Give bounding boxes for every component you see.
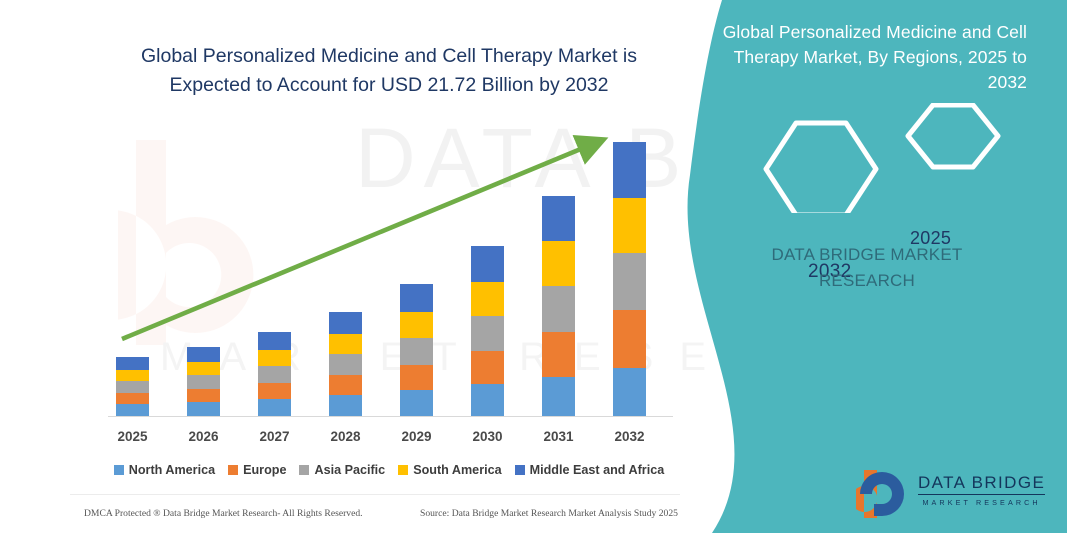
legend-label: North America — [129, 463, 215, 477]
footer-divider — [70, 494, 680, 495]
infographic-root: DATA BRIDGE MARKET RESEARCH Global Perso… — [0, 0, 1067, 533]
bar-segment-middle-east-and-africa[interactable] — [400, 284, 433, 312]
bar-segment-middle-east-and-africa[interactable] — [329, 312, 362, 334]
legend-swatch-icon — [299, 465, 309, 475]
legend-item-europe[interactable]: Europe — [228, 463, 286, 477]
bar-2030[interactable] — [471, 246, 504, 416]
bar-segment-asia-pacific[interactable] — [258, 366, 291, 383]
bar-segment-south-america[interactable] — [400, 312, 433, 338]
bar-2027[interactable] — [258, 332, 291, 416]
bar-segment-asia-pacific[interactable] — [542, 286, 575, 332]
legend-swatch-icon — [228, 465, 238, 475]
bar-segment-europe[interactable] — [258, 383, 291, 399]
legend-label: South America — [413, 463, 501, 477]
bar-segment-north-america[interactable] — [542, 377, 575, 416]
bar-segment-middle-east-and-africa[interactable] — [471, 246, 504, 282]
bar-2026[interactable] — [187, 347, 220, 416]
legend-item-south-america[interactable]: South America — [398, 463, 501, 477]
bar-2028[interactable] — [329, 312, 362, 416]
x-axis-line — [108, 416, 673, 417]
chart-legend: North AmericaEuropeAsia PacificSouth Ame… — [104, 461, 674, 479]
legend-swatch-icon — [114, 465, 124, 475]
hexagon-icons — [660, 103, 1067, 213]
bar-segment-middle-east-and-africa[interactable] — [187, 347, 220, 362]
brand-name: DATA BRIDGE MARKET RESEARCH — [697, 242, 1037, 294]
bar-segment-asia-pacific[interactable] — [471, 316, 504, 351]
legend-label: Asia Pacific — [314, 463, 385, 477]
x-tick-2031: 2031 — [529, 429, 589, 444]
bar-segment-asia-pacific[interactable] — [329, 354, 362, 375]
bar-segment-north-america[interactable] — [329, 395, 362, 416]
chart-plot-area: 20252026202720282029203020312032 — [0, 0, 700, 470]
bar-segment-south-america[interactable] — [613, 198, 646, 253]
bar-segment-middle-east-and-africa[interactable] — [613, 142, 646, 198]
bar-segment-north-america[interactable] — [187, 402, 220, 416]
x-tick-2026: 2026 — [174, 429, 234, 444]
legend-item-north-america[interactable]: North America — [114, 463, 215, 477]
bar-segment-south-america[interactable] — [471, 282, 504, 316]
bar-segment-north-america[interactable] — [471, 384, 504, 416]
bar-segment-europe[interactable] — [329, 375, 362, 395]
bar-segment-asia-pacific[interactable] — [187, 375, 220, 389]
bar-segment-europe[interactable] — [542, 332, 575, 377]
bar-2032[interactable] — [613, 142, 646, 416]
bar-segment-europe[interactable] — [400, 365, 433, 390]
brand-panel: Global Personalized Medicine and Cell Th… — [660, 0, 1067, 533]
bar-segment-south-america[interactable] — [116, 370, 149, 381]
x-tick-2029: 2029 — [387, 429, 447, 444]
bar-2025[interactable] — [116, 357, 149, 416]
x-tick-2025: 2025 — [103, 429, 163, 444]
legend-label: Europe — [243, 463, 286, 477]
legend-label: Middle East and Africa — [530, 463, 665, 477]
x-tick-2027: 2027 — [245, 429, 305, 444]
bridge-logo-icon — [856, 468, 914, 520]
legend-item-middle-east-and-africa[interactable]: Middle East and Africa — [515, 463, 665, 477]
x-tick-2030: 2030 — [458, 429, 518, 444]
bar-segment-asia-pacific[interactable] — [116, 381, 149, 393]
bar-segment-middle-east-and-africa[interactable] — [542, 196, 575, 241]
bar-segment-asia-pacific[interactable] — [400, 338, 433, 365]
bar-segment-north-america[interactable] — [116, 404, 149, 416]
panel-title: Global Personalized Medicine and Cell Th… — [717, 20, 1027, 95]
bar-2031[interactable] — [542, 196, 575, 416]
bar-segment-middle-east-and-africa[interactable] — [258, 332, 291, 350]
legend-swatch-icon — [515, 465, 525, 475]
hexagon-group: 2032 2025 — [660, 103, 1067, 213]
bar-segment-europe[interactable] — [187, 389, 220, 402]
legend-item-asia-pacific[interactable]: Asia Pacific — [299, 463, 385, 477]
bar-segment-middle-east-and-africa[interactable] — [116, 357, 149, 370]
bar-segment-south-america[interactable] — [258, 350, 291, 366]
bar-segment-south-america[interactable] — [329, 334, 362, 354]
bar-segment-europe[interactable] — [471, 351, 504, 384]
bar-segment-south-america[interactable] — [187, 362, 220, 375]
x-tick-2028: 2028 — [316, 429, 376, 444]
bar-segment-europe[interactable] — [116, 393, 149, 404]
logo-wordmark: DATA BRIDGE — [918, 473, 1045, 495]
bar-segment-south-america[interactable] — [542, 241, 575, 286]
bar-segment-north-america[interactable] — [258, 399, 291, 416]
legend-swatch-icon — [398, 465, 408, 475]
company-logo: DATA BRIDGE MARKET RESEARCH — [856, 468, 1056, 523]
x-tick-2032: 2032 — [600, 429, 660, 444]
bar-2029[interactable] — [400, 284, 433, 416]
bar-segment-asia-pacific[interactable] — [613, 253, 646, 310]
brand-name-line-2: RESEARCH — [819, 271, 915, 290]
logo-tagline: MARKET RESEARCH — [918, 498, 1045, 507]
footer: DMCA Protected ® Data Bridge Market Rese… — [70, 508, 685, 524]
brand-name-line-1: DATA BRIDGE MARKET — [772, 245, 963, 264]
bar-segment-north-america[interactable] — [613, 368, 646, 416]
bar-segment-europe[interactable] — [613, 310, 646, 368]
bar-segment-north-america[interactable] — [400, 390, 433, 416]
footer-copyright: DMCA Protected ® Data Bridge Market Rese… — [84, 508, 363, 519]
footer-source: Source: Data Bridge Market Research Mark… — [420, 508, 678, 519]
